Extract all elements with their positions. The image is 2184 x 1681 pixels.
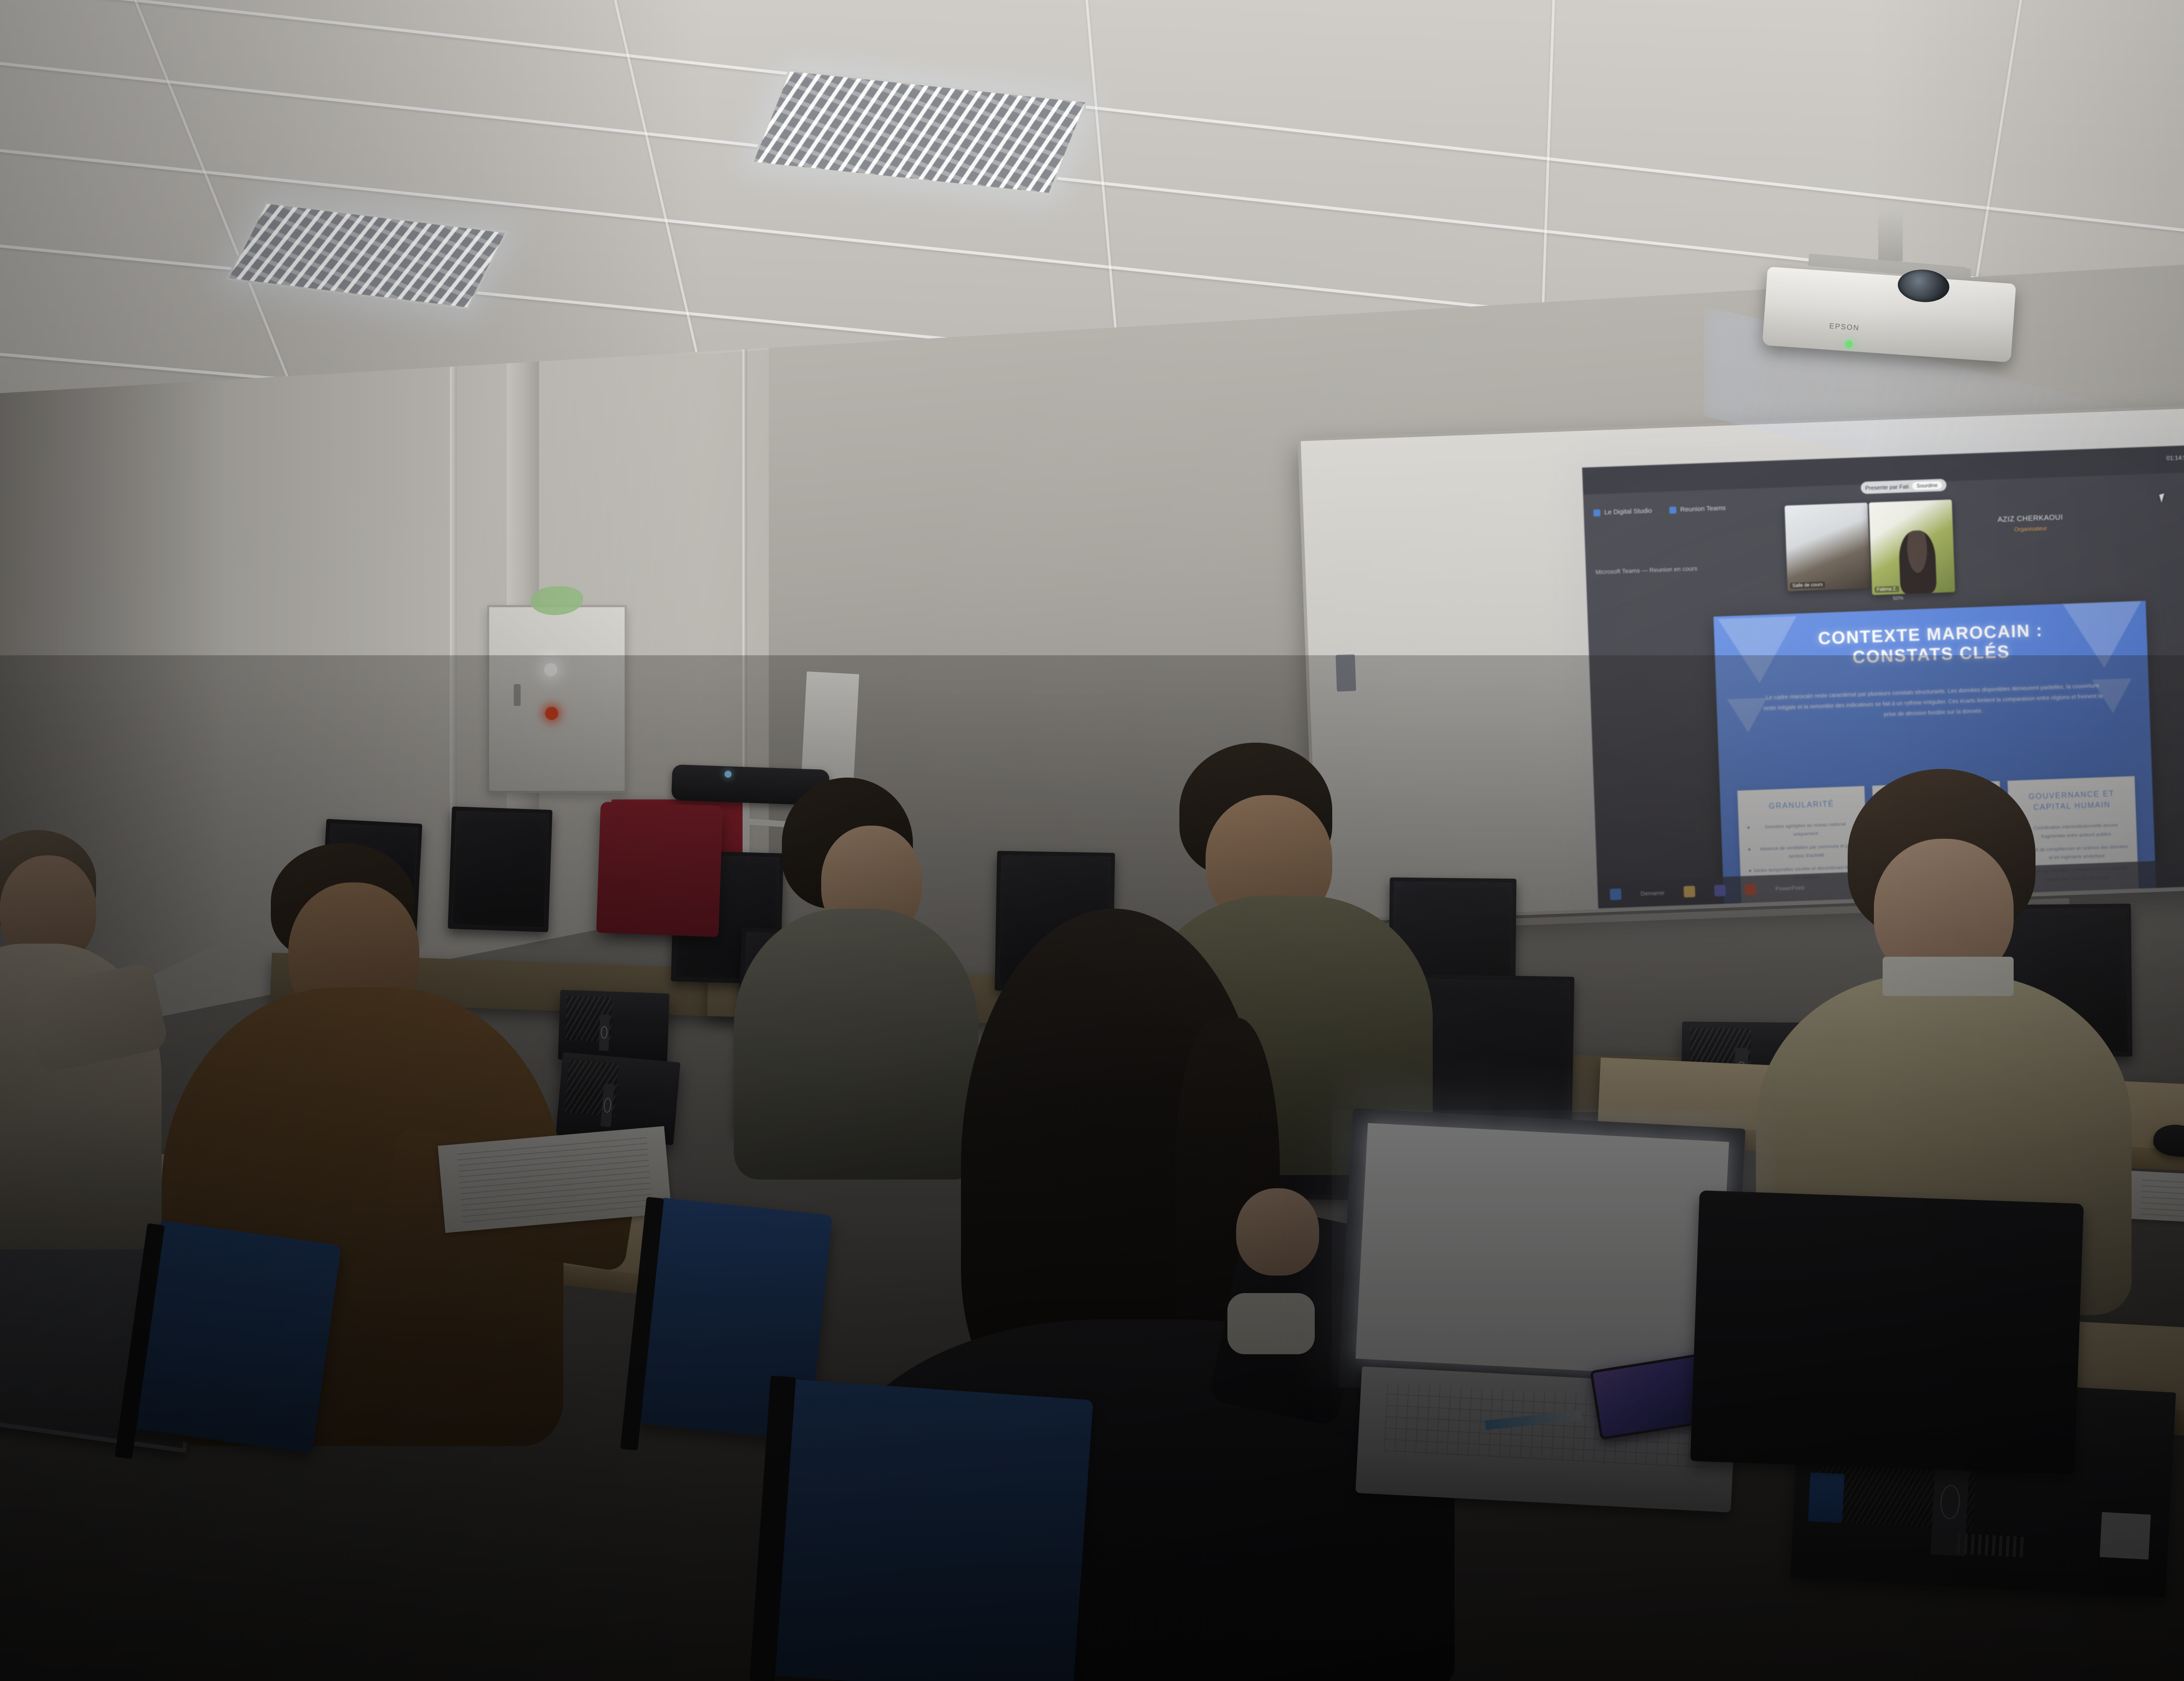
panel-alarm-led-icon <box>545 707 558 720</box>
laptop-screen <box>1355 1123 1729 1378</box>
video-tile-presenter[interactable]: Fatima Z. <box>1869 499 1955 595</box>
panel-power-led-icon <box>544 663 557 676</box>
chair-foreground <box>767 1379 1093 1681</box>
projector-brand-label: EPSON <box>1829 322 1860 333</box>
mute-pill: Sourdine <box>1912 481 1942 490</box>
service-tag-sticker <box>2100 1512 2151 1560</box>
electrical-panel <box>487 605 627 793</box>
video-tile-room-name: Salle de cours <box>1790 581 1825 589</box>
document-text-lines <box>456 1136 653 1222</box>
meeting-timer: 01:14:52 <box>2166 453 2184 461</box>
slide-subtitle: Le cadre marocain reste caractérisé par … <box>1759 680 2106 724</box>
teams-icon[interactable] <box>1714 885 1726 896</box>
panel-latch[interactable] <box>514 684 521 706</box>
favicon-icon <box>1593 509 1601 516</box>
chair-left-1 <box>131 1220 342 1453</box>
presenter-silhouette <box>1898 530 1937 594</box>
windows-icon[interactable] <box>1610 889 1621 900</box>
speaker-badge-label: Presente par Fati <box>1865 483 1909 491</box>
video-tile-presenter-name: Fatima Z. <box>1874 586 1899 593</box>
chair-right <box>1690 1190 2084 1474</box>
chair-back-red <box>596 802 723 937</box>
favicon-icon <box>1669 506 1676 514</box>
intel-sticker-icon <box>1808 1472 1845 1523</box>
taskbar-start-label: Demarrer <box>1641 889 1665 897</box>
whiteboard-magnet <box>1336 654 1356 692</box>
projector-power-led-icon <box>1845 340 1853 348</box>
zoom-level-caption: 50% <box>1893 595 1904 602</box>
front-usb-ports[interactable] <box>1957 1533 2025 1557</box>
sleeve-cuff <box>1227 1293 1315 1354</box>
video-tiles-strip: Salle de cours Fatima Z. <box>1785 499 1956 598</box>
projector-ceiling-mount <box>1878 209 1903 261</box>
collar <box>1883 957 2014 996</box>
folder-icon[interactable] <box>1683 886 1695 898</box>
video-tile-room[interactable]: Salle de cours <box>1785 502 1871 591</box>
classroom-scene: Le Digital Studio Reunion Teams Microsof… <box>0 0 2184 1681</box>
hand-to-ear <box>1236 1188 1319 1276</box>
webcam-led-icon <box>725 771 732 778</box>
